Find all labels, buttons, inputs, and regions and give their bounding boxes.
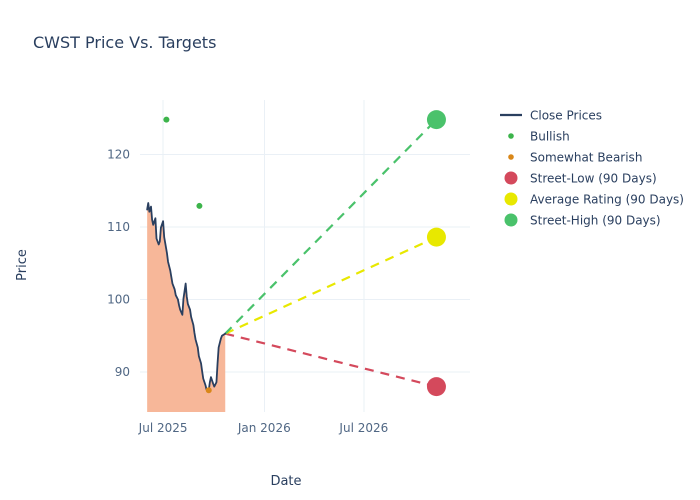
legend-dot-swatch [505,172,518,185]
rating-marker[interactable] [206,387,212,393]
x-axis-label: Date [270,474,301,489]
rating-marker[interactable] [163,117,169,123]
y-tick-label: 90 [115,365,130,379]
legend-label: Street-High (90 Days) [530,214,661,228]
rating-marker[interactable] [196,203,202,209]
legend-label: Average Rating (90 Days) [530,193,684,207]
legend-label: Somewhat Bearish [530,151,642,165]
y-tick-label: 100 [107,293,130,307]
chart-title: CWST Price Vs. Targets [33,33,216,52]
x-tick-label: Jul 2025 [138,421,188,435]
target-marker[interactable] [427,228,446,247]
x-tick-label: Jan 2026 [237,421,291,435]
legend-item[interactable]: Average Rating (90 Days) [505,193,685,207]
x-axis-ticks: Jul 2025Jan 2026Jul 2026 [138,421,389,435]
legend-dot-swatch [505,193,518,206]
legend-dot-swatch [505,214,518,227]
y-tick-label: 120 [107,147,130,161]
legend-label: Bullish [530,130,570,144]
legend-dot-swatch [508,154,514,160]
target-marker[interactable] [427,377,446,396]
x-tick-label: Jul 2026 [338,421,388,435]
legend-dot-swatch [508,133,514,139]
target-marker[interactable] [427,110,446,129]
y-axis-label: Price [15,249,30,281]
chart-container: CWST Price Vs. Targets 90100110120 Jul 2… [0,0,700,500]
legend-label: Street-Low (90 Days) [530,172,657,186]
y-tick-label: 110 [107,220,130,234]
legend-label: Close Prices [530,109,602,123]
price-vs-targets-chart: CWST Price Vs. Targets 90100110120 Jul 2… [0,0,700,500]
